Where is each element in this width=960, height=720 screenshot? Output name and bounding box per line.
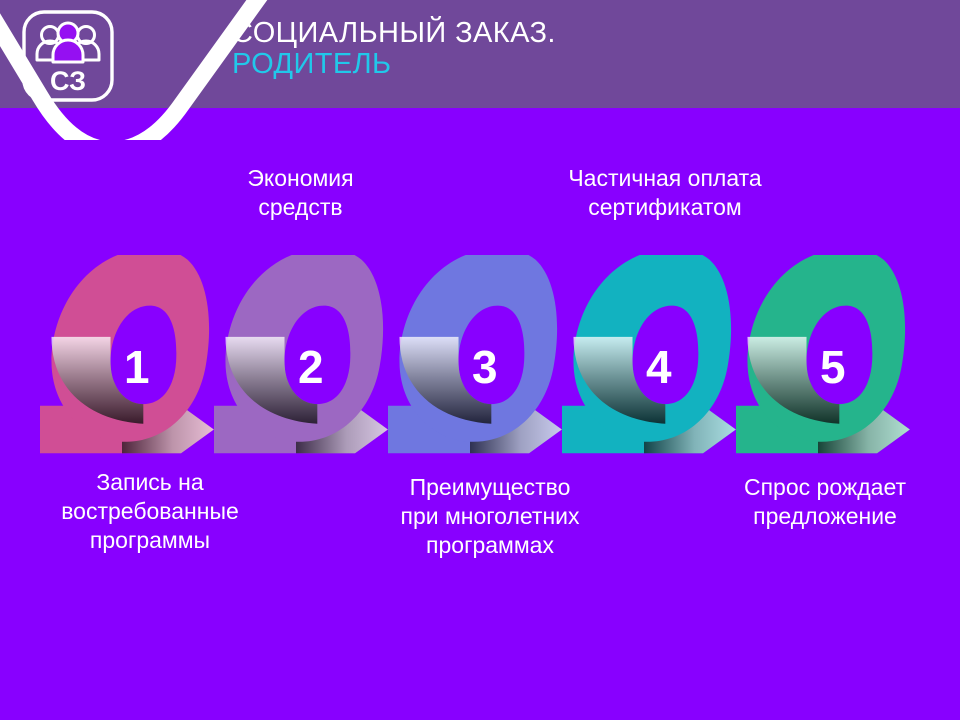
logo-text: СЗ: [50, 66, 86, 96]
caption-bottom-enrollment: Запись на востребованные программы: [0, 468, 300, 554]
header-title-line1: СОЦИАЛЬНЫЙ ЗАКАЗ.: [232, 18, 556, 49]
caption-top-economy: Экономия средств: [178, 164, 423, 222]
step-2-number: 2: [298, 341, 324, 393]
ribbon-step-4[interactable]: 4: [562, 255, 736, 453]
caption-bottom-advantage: Преимущество при многолетних программах: [340, 473, 640, 559]
header-title-line2: РОДИТЕЛЬ: [232, 49, 556, 80]
step-1-number: 1: [124, 341, 150, 393]
logo: СЗ: [20, 8, 116, 104]
group-people-icon: [37, 23, 99, 62]
ribbon-step-2[interactable]: 2: [214, 255, 388, 453]
ribbon-steps: 1 2 3: [40, 255, 910, 453]
ribbon-step-3[interactable]: 3: [388, 255, 562, 453]
caption-top-partial-payment: Частичная оплата сертификатом: [520, 164, 810, 222]
ribbon-process-diagram: 1 2 3: [0, 255, 960, 470]
ribbon-step-1[interactable]: 1: [40, 255, 214, 453]
step-3-number: 3: [472, 341, 498, 393]
step-4-number: 4: [646, 341, 672, 393]
ribbon-step-5[interactable]: 5: [736, 255, 910, 453]
caption-bottom-demand: Спрос рождает предложение: [690, 473, 960, 531]
slide-canvas: СЗ СОЦИАЛЬНЫЙ ЗАКАЗ. РОДИТЕЛЬ Экономия с…: [0, 0, 960, 720]
step-5-number: 5: [820, 341, 846, 393]
header-title: СОЦИАЛЬНЫЙ ЗАКАЗ. РОДИТЕЛЬ: [232, 18, 556, 80]
